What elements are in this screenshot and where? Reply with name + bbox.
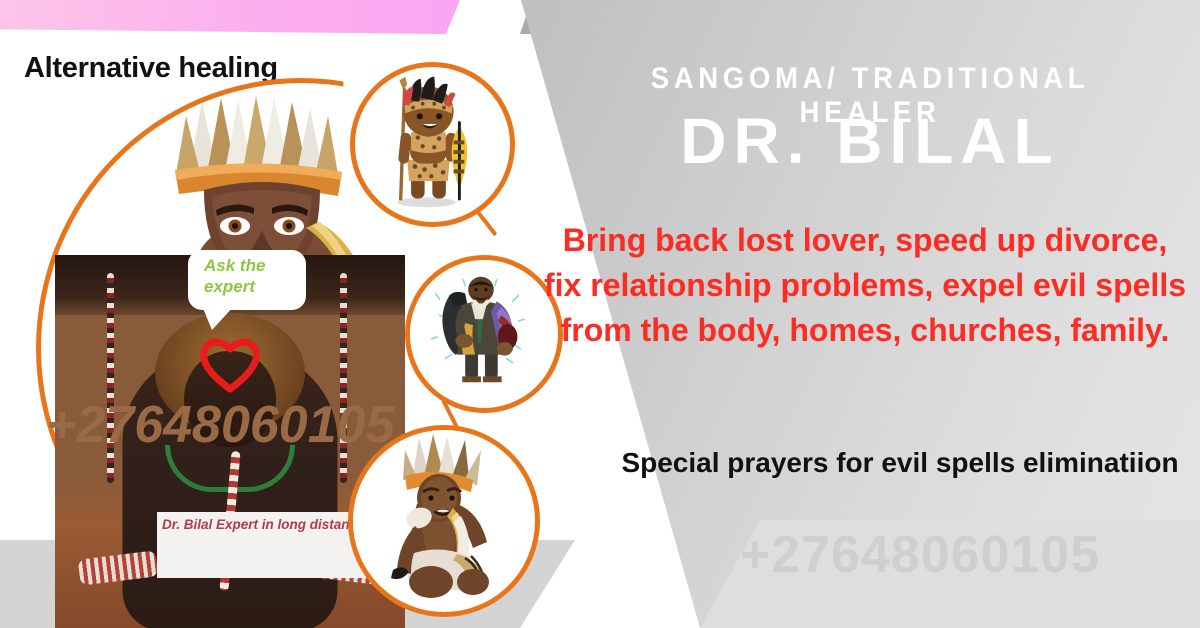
healer-name: DR. BILAL	[560, 104, 1180, 178]
circle-zulu-warrior	[350, 62, 515, 227]
speech-bubble-label: Ask the expert	[204, 255, 308, 297]
gray-bottom-left-block	[0, 540, 58, 628]
poster-canvas: Alternative healing	[0, 0, 1200, 628]
circle-kneeling-sangoma	[348, 425, 540, 617]
page-title: Alternative healing	[24, 52, 278, 85]
services-text: Bring back lost lover, speed up divorce,…	[540, 218, 1190, 353]
traditional-healer-with-bag-illustration	[410, 260, 548, 398]
zulu-warrior-child-illustration	[355, 67, 500, 212]
special-prayers-text: Special prayers for evil spells eliminat…	[620, 442, 1180, 484]
ghost-phone-number: +27648060105	[640, 525, 1200, 585]
heart-icon	[198, 335, 262, 393]
kneeling-sangoma-illustration	[353, 430, 525, 602]
pink-accent-bar	[0, 0, 460, 34]
